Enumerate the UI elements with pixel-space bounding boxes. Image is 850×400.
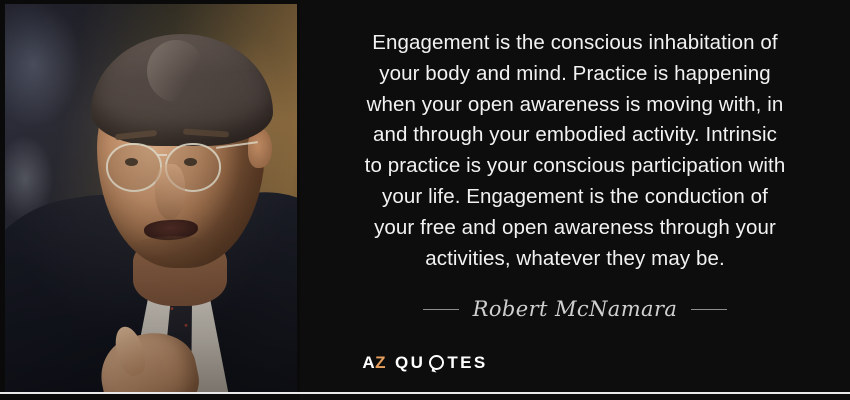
quote-card: Engagement is the conscious inhabitation… [0,0,850,400]
logo-quotes-word: QU TES [395,354,488,371]
logo-quotes-part-1: QU [395,354,425,371]
logo-letter-a: A [362,353,375,372]
az-quotes-logo[interactable]: AZ QU TES [0,354,850,371]
portrait-photo [5,4,297,393]
logo-letter-z: Z [375,353,386,372]
bottom-divider [0,392,850,394]
eyeglass-bridge [157,154,167,156]
attribution-rule-left [423,309,459,310]
speech-bubble-o-icon [429,355,444,370]
logo-quotes-part-2: TES [447,354,487,371]
logo-az-mark: AZ [362,354,386,371]
eyeglass-lens-left [106,143,162,192]
chin-shadow [127,236,223,266]
portrait-panel [0,0,300,400]
quote-text: Engagement is the conscious inhabitation… [340,28,810,274]
author-name: Robert McNamara [473,297,678,321]
quote-panel: Engagement is the conscious inhabitation… [300,0,850,400]
attribution-rule-right [691,309,727,310]
attribution: Robert McNamara [340,297,810,321]
nose [155,164,185,220]
